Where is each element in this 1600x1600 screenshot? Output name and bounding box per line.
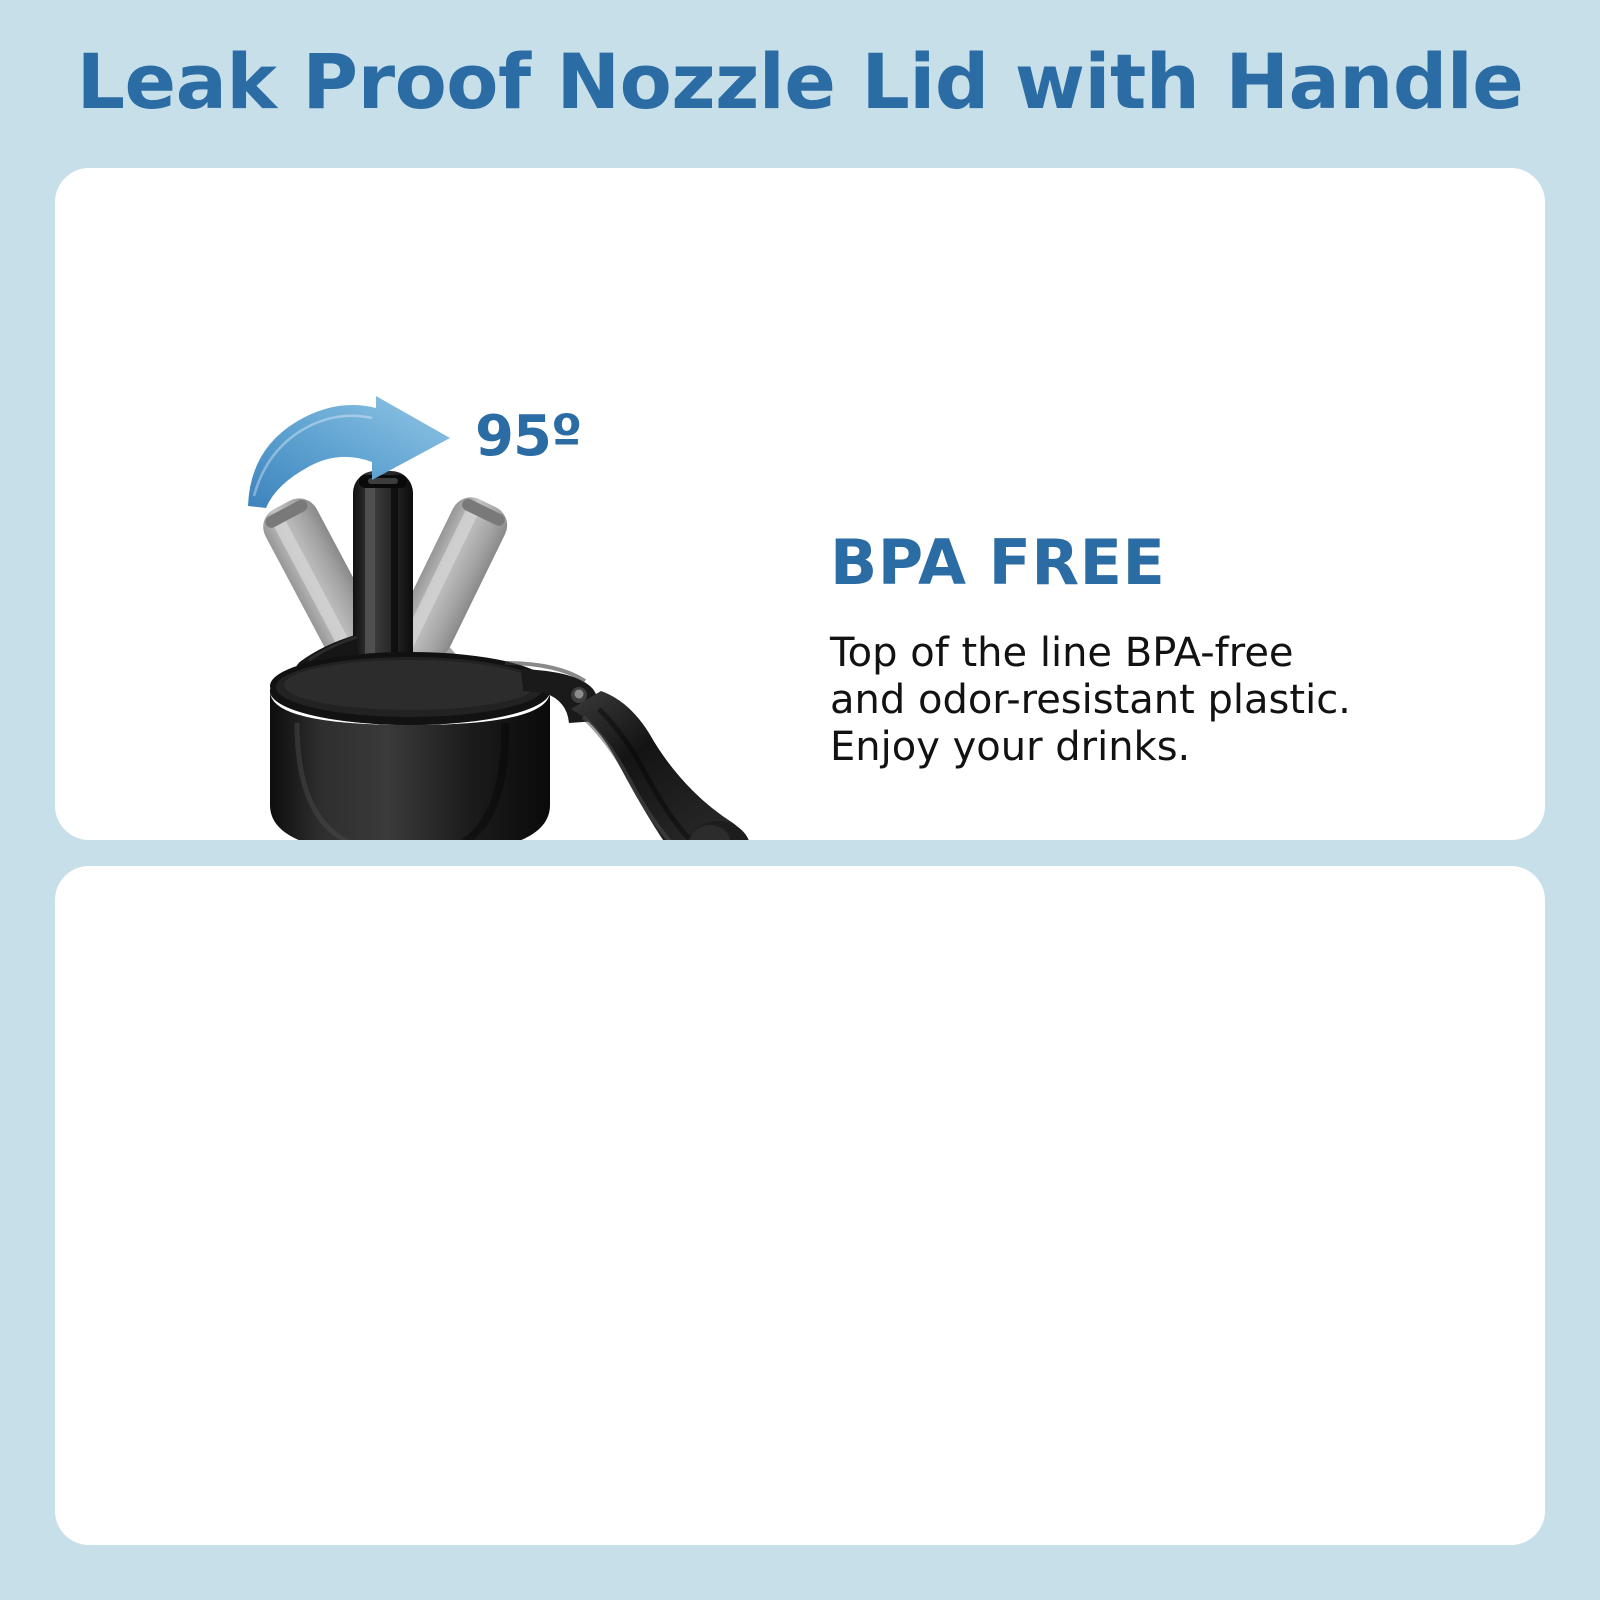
bpa-free-description: Top of the line BPA-free and odor-resist…	[830, 630, 1351, 772]
bpa-free-heading: BPA FREE	[830, 530, 1165, 597]
handle-hinge	[505, 663, 599, 723]
spout-ghost-right	[374, 491, 552, 715]
cap-rim	[270, 652, 550, 725]
page-title: Leak Proof Nozzle Lid with Handle	[0, 44, 1600, 120]
carry-handle	[571, 691, 751, 840]
feature-card-bpa-free: BPA FREE Top of the line BPA-free and od…	[55, 168, 1545, 840]
feature-card-extra-wide-handle: EXTRA WIDE HANDLE Able to hold three fin…	[55, 866, 1545, 1545]
spout-ghost-left	[214, 491, 401, 717]
rotation-angle-label: 95º	[475, 404, 582, 469]
rotation-arrow-icon	[240, 396, 470, 511]
cap-body	[270, 657, 550, 840]
